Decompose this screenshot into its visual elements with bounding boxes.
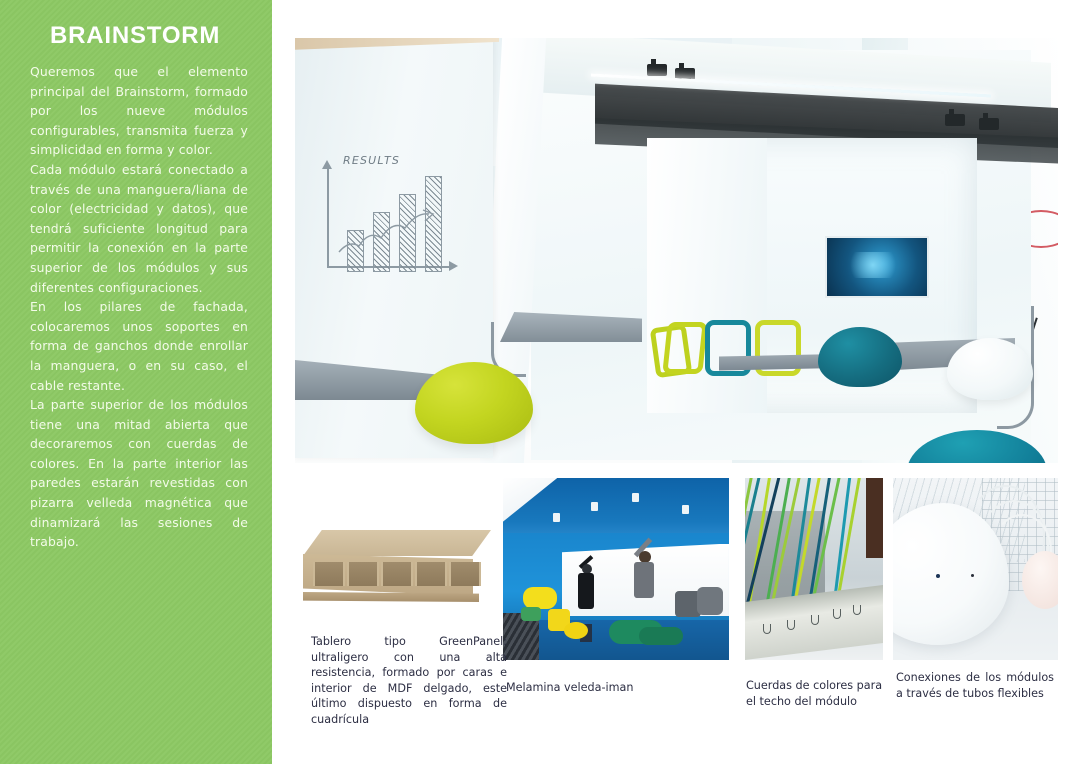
- caption-greenpanel-board: Tablero tipo GreenPanel: ultraligero con…: [311, 634, 507, 728]
- ceiling-light-d: [682, 505, 689, 514]
- window-frame-dark: [866, 478, 883, 558]
- caption-coloured-cords: Cuerdas de colores para el techo del mód…: [746, 678, 886, 709]
- thumbnail-flexible-tubes: [893, 478, 1058, 660]
- beanbag-yellow-3: [564, 622, 588, 639]
- office-chair-2: [697, 587, 723, 615]
- panel-cell-4: [415, 562, 447, 586]
- caption-melamine-room: Melamina veleda-iman: [506, 680, 726, 696]
- panel-cell-1: [313, 562, 345, 586]
- ceiling-light-c: [632, 493, 639, 502]
- chart-y-axis: [327, 166, 329, 268]
- ceiling-spotlight-1: [647, 64, 667, 76]
- caption-flexible-tubes: Conexiones de los módulos a través de tu…: [896, 670, 1054, 701]
- panel-cell-2: [347, 562, 379, 586]
- ceiling-spotlight-4: [979, 118, 999, 130]
- chart-trend-arrow: [337, 194, 449, 258]
- thumbnail-coloured-cords: [745, 478, 883, 660]
- cord-hook-4: [833, 609, 841, 619]
- ceiling-light-a: [553, 513, 560, 522]
- panel-cell-5: [449, 562, 481, 586]
- panel-cell-3: [381, 562, 413, 586]
- wall-display-screen: [825, 236, 929, 298]
- honeycomb-panel-illustration: [303, 530, 491, 606]
- sidebar-paragraph-3: En los pilares de fachada, colocaremos u…: [30, 297, 248, 395]
- pouf-teal-small: [818, 327, 902, 387]
- painter-2-head: [639, 551, 651, 563]
- beanbag-yellow-1: [523, 587, 557, 609]
- sidebar-paragraph-4: La parte superior de los módulos tiene u…: [30, 395, 248, 571]
- painter-2-body: [634, 562, 654, 598]
- results-bar-chart-doodle: RESULTS: [319, 158, 464, 273]
- hero-image-module-interior: WHAT WHY WHEN HOW WHO WHERE ?: [295, 38, 1058, 463]
- pouf-white: [947, 338, 1033, 400]
- panel-bottom-face: [303, 592, 479, 602]
- beanbag-green-1: [521, 607, 541, 621]
- painter-1-body: [578, 573, 594, 609]
- chart-x-axis-arrow: [449, 261, 458, 271]
- sidebar-description: Queremos que el elemento principal del B…: [30, 62, 248, 571]
- ceiling-spotlight-3: [945, 114, 965, 126]
- presentation-slide: BRAINSTORM Queremos que el elemento prin…: [0, 0, 1080, 764]
- sidebar-paragraph-1: Queremos que el elemento principal del B…: [30, 62, 248, 160]
- cord-hook-2: [787, 620, 795, 630]
- cord-hook-3: [811, 615, 819, 625]
- sidebar-panel: BRAINSTORM Queremos que el elemento prin…: [0, 0, 272, 764]
- left-wall-top-trim: [295, 38, 499, 50]
- page-title: BRAINSTORM: [50, 22, 220, 50]
- beanbag-green-3: [639, 627, 683, 645]
- cord-hook-1: [763, 624, 771, 634]
- sidebar-paragraph-2: Cada módulo estará conectado a través de…: [30, 160, 248, 297]
- stool-lime-2: [662, 322, 707, 374]
- inner-room: [647, 138, 977, 413]
- hero-scene: WHAT WHY WHEN HOW WHO WHERE ?: [295, 38, 1058, 463]
- thumbnail-greenpanel-board: [295, 512, 498, 622]
- thumbnail-melamine-room: [503, 478, 729, 660]
- panel-top-face: [303, 530, 491, 556]
- chart-title: RESULTS: [343, 154, 400, 167]
- ceiling-light-b: [591, 502, 598, 511]
